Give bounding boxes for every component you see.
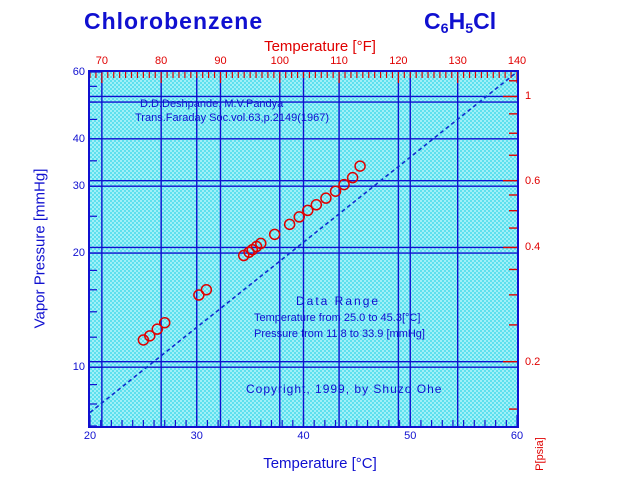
data-range-pressure: Pressure from 11.8 to 33.9 [mmHg] xyxy=(254,328,425,340)
tick-label-top: 70 xyxy=(96,55,108,67)
tick-label-top: 100 xyxy=(271,55,289,67)
tick-label-bottom: 60 xyxy=(511,430,523,442)
tick-label-top: 140 xyxy=(508,55,526,67)
top-axis-title: Temperature [°F] xyxy=(0,38,640,55)
data-range-title: Data Range xyxy=(296,294,380,308)
tick-label-top: 130 xyxy=(449,55,467,67)
tick-label-top: 120 xyxy=(389,55,407,67)
tick-label-left: 10 xyxy=(73,361,85,373)
tick-label-right: 0.2 xyxy=(525,356,540,368)
tick-label-top: 80 xyxy=(155,55,167,67)
reference-citation-line2: Trans.Faraday Soc.vol.63,p.2149(1967) xyxy=(135,112,329,124)
tick-label-bottom: 40 xyxy=(297,430,309,442)
tick-label-bottom: 20 xyxy=(84,430,96,442)
left-axis-title: Vapor Pressure [mmHg] xyxy=(32,89,49,409)
tick-label-right: 1 xyxy=(525,90,531,102)
copyright-notice: Copyright, 1999, by Shuzo Ohe xyxy=(246,382,442,396)
tick-label-left: 60 xyxy=(73,66,85,78)
tick-label-left: 20 xyxy=(73,247,85,259)
data-range-temperature: Temperature from 25.0 to 45.3[°C] xyxy=(254,312,420,324)
tick-label-top: 110 xyxy=(330,55,348,67)
right-axis-title: P[psia] xyxy=(534,414,546,494)
grid-lines xyxy=(90,72,517,426)
chart-canvas xyxy=(90,72,517,426)
tick-label-bottom: 50 xyxy=(404,430,416,442)
chemical-formula: C6H5Cl xyxy=(424,8,496,35)
tick-label-top: 90 xyxy=(214,55,226,67)
tick-label-right: 0.4 xyxy=(525,241,540,253)
tick-label-bottom: 30 xyxy=(191,430,203,442)
tick-label-left: 40 xyxy=(73,133,85,145)
page-title: Chlorobenzene xyxy=(84,8,263,35)
tick-label-left: 30 xyxy=(73,180,85,192)
tick-label-right: 0.6 xyxy=(525,175,540,187)
reference-citation-line1: D.D.Deshpande, M.V.Pandya xyxy=(140,98,283,110)
